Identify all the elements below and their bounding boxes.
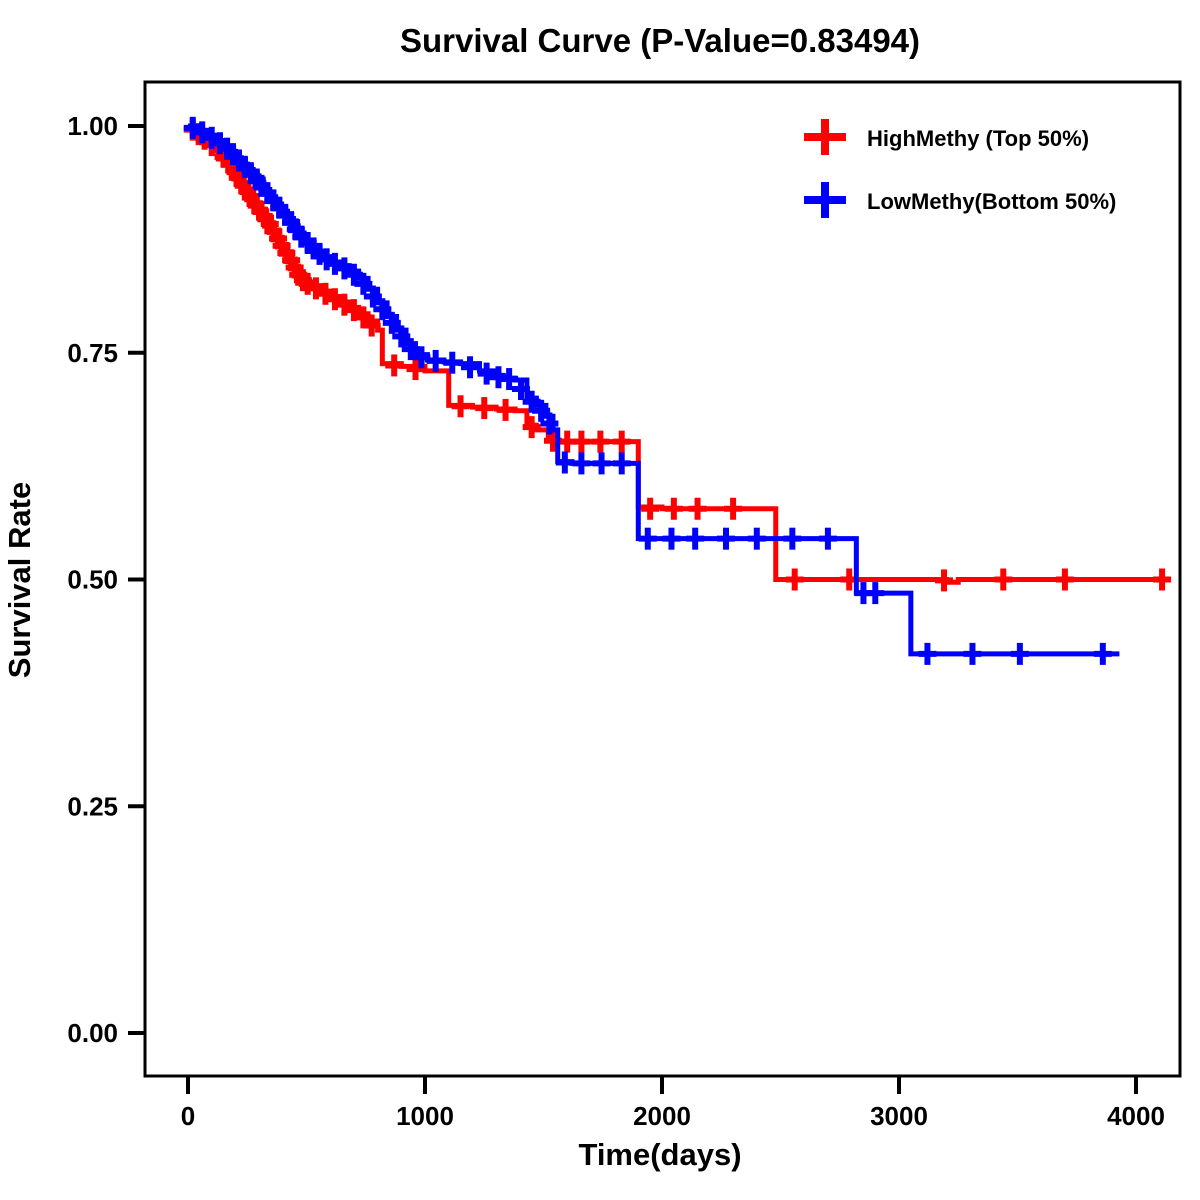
y-axis-ticks: 0.000.250.500.751.00 xyxy=(67,111,145,1048)
page-title: Survival Curve (P-Value=0.83494) xyxy=(400,22,920,59)
chart-legend: HighMethy (Top 50%)LowMethy(Bottom 50%) xyxy=(804,119,1116,218)
x-axis-label: Time(days) xyxy=(578,1137,741,1172)
x-tick-label: 1000 xyxy=(396,1101,454,1131)
legend-label-2: LowMethy(Bottom 50%) xyxy=(867,189,1116,214)
y-tick-label: 0.75 xyxy=(67,338,118,368)
chart-canvas: Survival Curve (P-Value=0.83494) Surviva… xyxy=(0,0,1200,1200)
survival-curve-plot: Survival Curve (P-Value=0.83494) Surviva… xyxy=(0,0,1200,1200)
y-tick-label: 0.50 xyxy=(67,565,118,595)
x-axis-ticks: 01000200030004000 xyxy=(181,1076,1165,1131)
y-axis-label: Survival Rate xyxy=(2,482,37,678)
x-tick-label: 2000 xyxy=(633,1101,691,1131)
x-tick-label: 4000 xyxy=(1107,1101,1165,1131)
y-tick-label: 0.25 xyxy=(67,791,118,821)
legend-label-1: HighMethy (Top 50%) xyxy=(867,126,1089,151)
y-tick-label: 1.00 xyxy=(67,111,118,141)
x-tick-label: 0 xyxy=(181,1101,195,1131)
x-tick-label: 3000 xyxy=(870,1101,928,1131)
y-tick-label: 0.00 xyxy=(67,1018,118,1048)
